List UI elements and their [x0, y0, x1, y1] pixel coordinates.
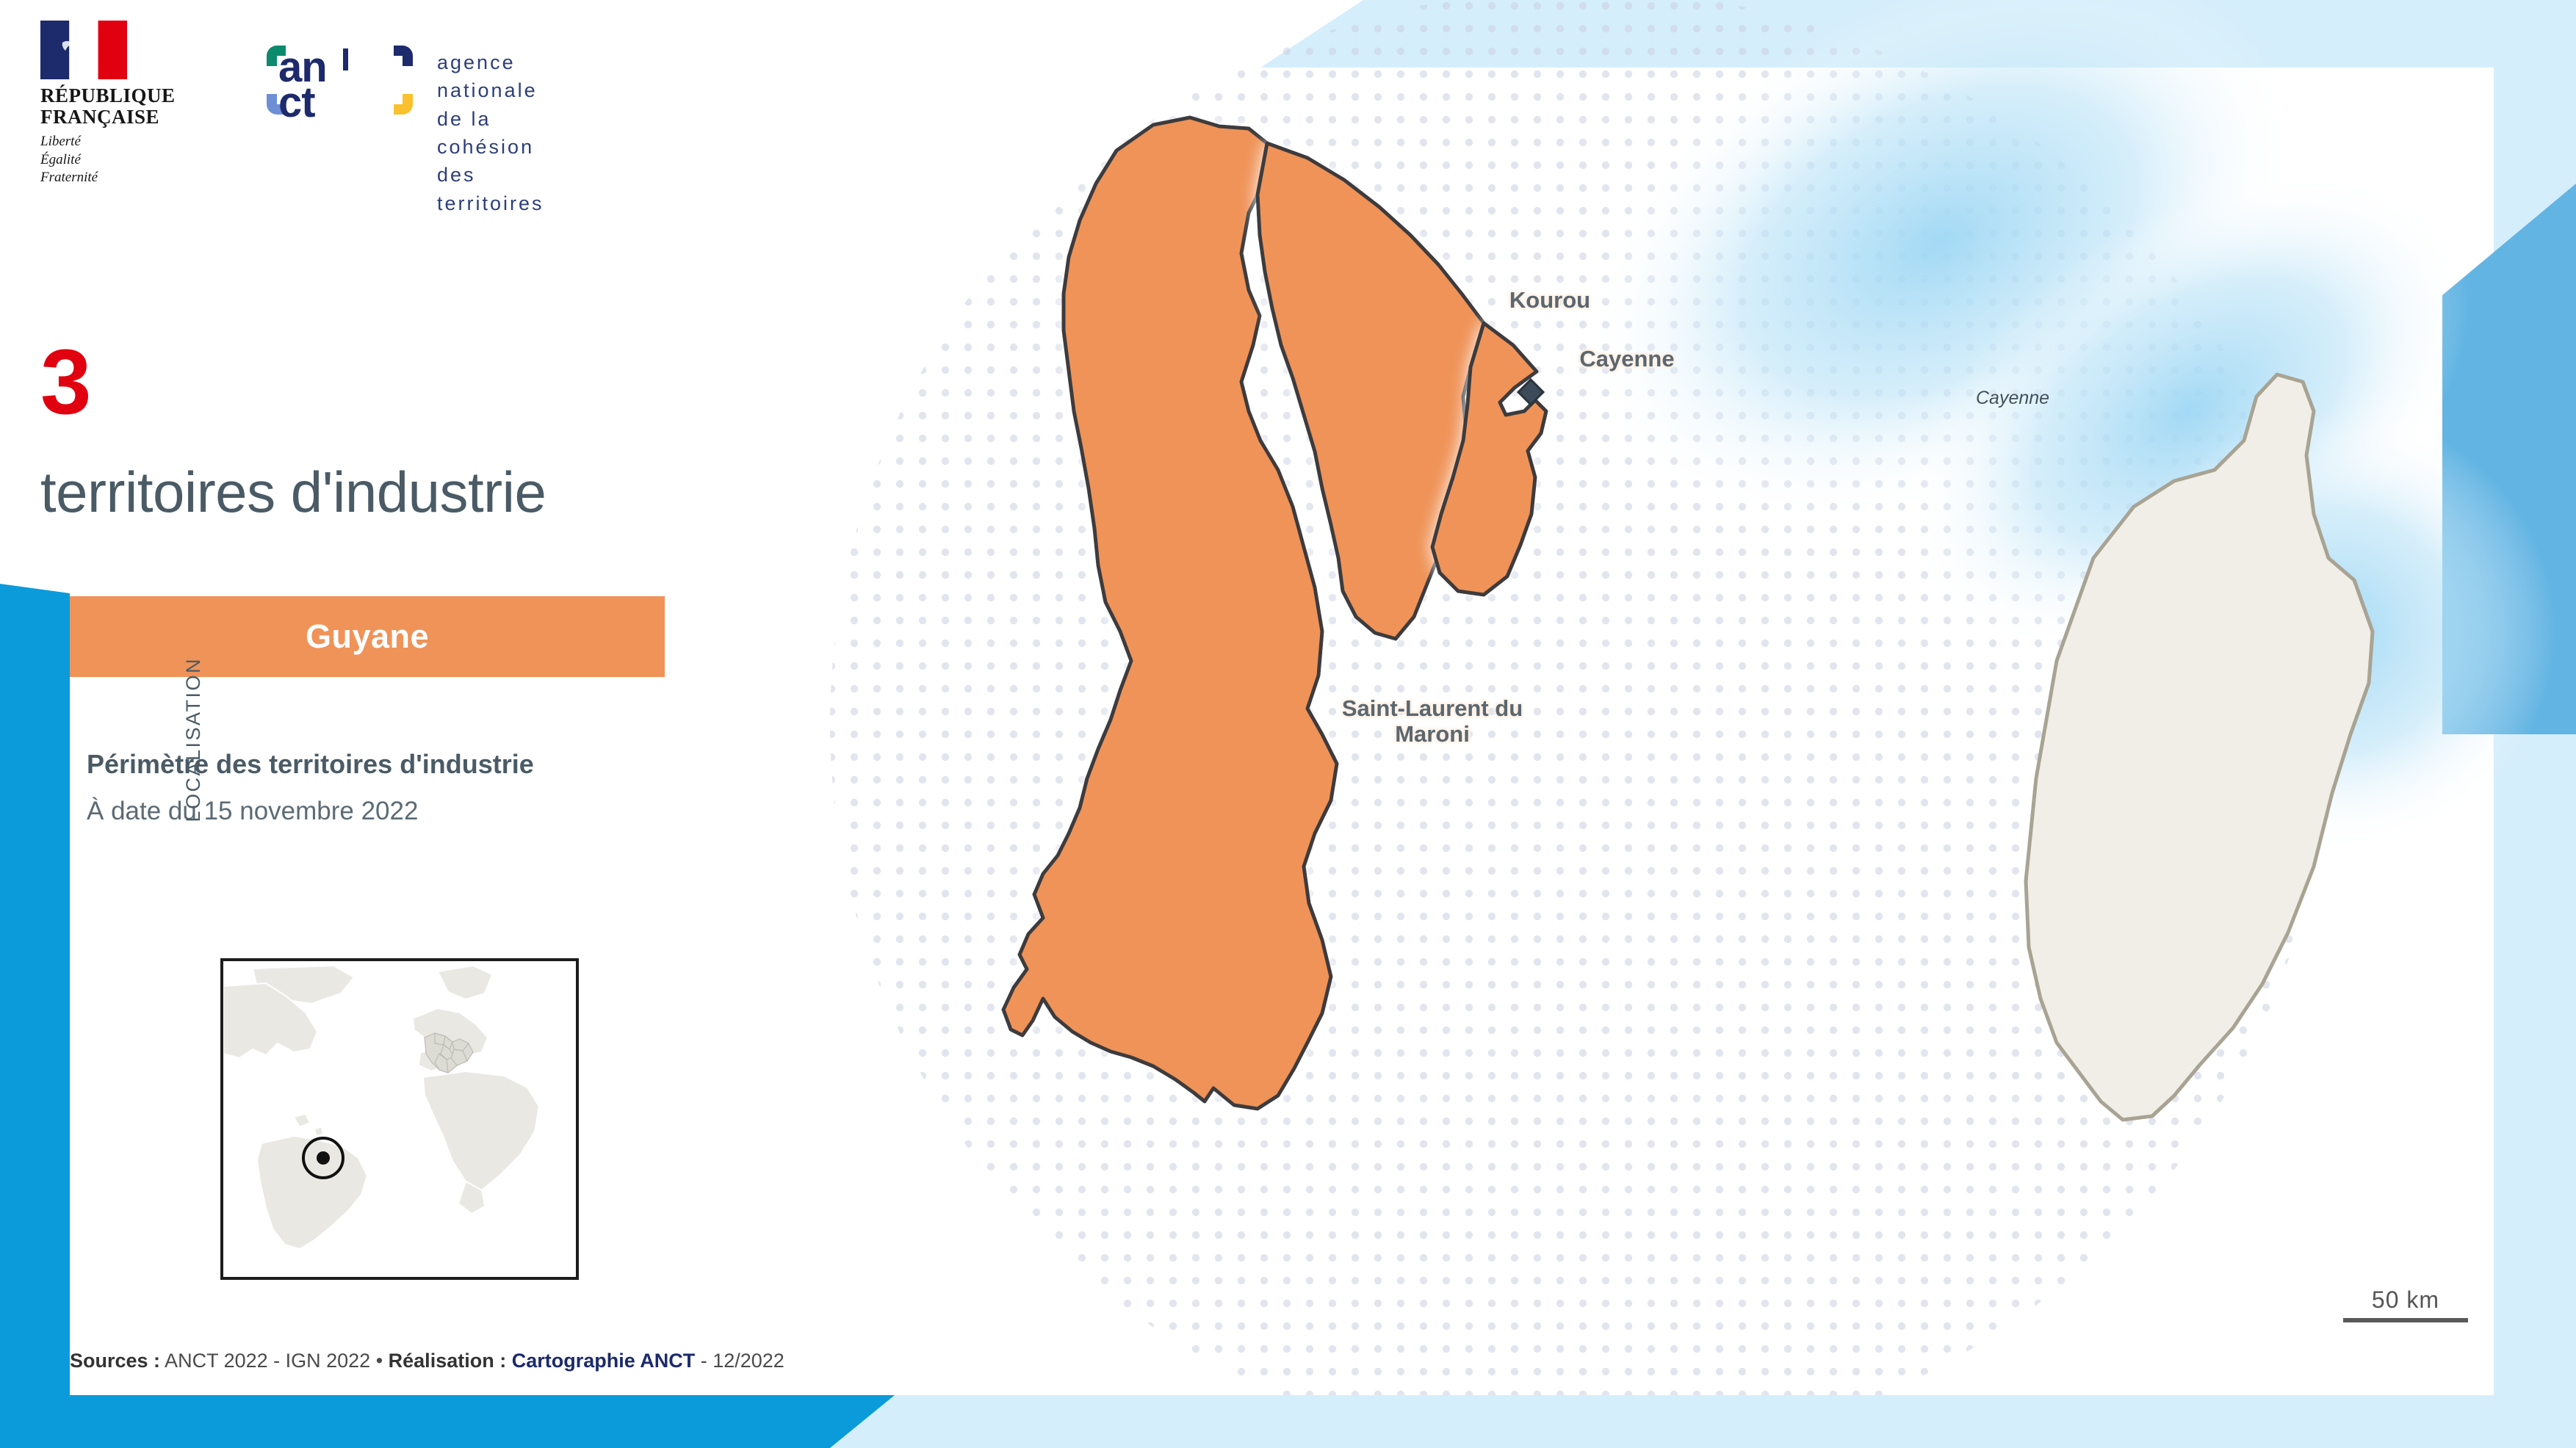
map-date-note: À date du 15 novembre 2022: [87, 797, 418, 826]
anct-wordmark: agence nationale de la cohésion des terr…: [437, 48, 544, 217]
republic-line-2: FRANÇAISE: [40, 106, 224, 128]
region-name: Guyane: [306, 618, 429, 656]
french-flag-marianne-icon: [40, 21, 127, 79]
world-locator-svg: [223, 961, 570, 1271]
svg-text:ct: ct: [278, 79, 315, 126]
map-subtitle: Périmètre des territoires d'industrie: [87, 749, 534, 780]
anct-line-3: des territoires: [437, 161, 544, 217]
territory-count-label: territoires d'industrie: [40, 459, 546, 526]
anct-line-2: de la cohésion: [437, 105, 544, 162]
map-scale-value: 50 km: [2343, 1286, 2468, 1314]
realisation-value: Cartographie ANCT: [506, 1350, 695, 1372]
anct-logo-icon: an ct: [261, 34, 419, 126]
locator-map-frame: [220, 958, 579, 1280]
map-scale-bar: 50 km: [2343, 1286, 2468, 1322]
sources-edition: - 12/2022: [695, 1350, 784, 1372]
devise-line-1: Liberté: [40, 133, 224, 151]
devise-text: Liberté Égalité Fraternité: [40, 133, 224, 187]
anct-line-1: agence nationale: [437, 48, 544, 105]
republic-line-1: RÉPUBLIQUE: [40, 85, 224, 106]
devise-line-3: Fraternité: [40, 169, 224, 187]
map-scale-rule: [2343, 1318, 2468, 1322]
republique-francaise-logo: RÉPUBLIQUE FRANÇAISE Liberté Égalité Fra…: [40, 21, 224, 187]
devise-line-2: Égalité: [40, 151, 224, 169]
territory-count: 3: [40, 345, 92, 421]
sources-line: Sources : ANCT 2022 - IGN 2022 • Réalisa…: [70, 1350, 784, 1372]
info-panel: RÉPUBLIQUE FRANÇAISE Liberté Égalité Fra…: [0, 0, 914, 1395]
realisation-label: Réalisation :: [389, 1350, 507, 1372]
region-banner: Guyane: [70, 596, 665, 677]
map-canvas[interactable]: [735, 0, 2576, 1448]
republique-francaise-text: RÉPUBLIQUE FRANÇAISE: [40, 85, 224, 128]
sources-label: Sources :: [70, 1350, 160, 1372]
locator-map-label: LOCALISATION: [184, 657, 203, 966]
sources-providers: ANCT 2022 - IGN 2022 •: [160, 1350, 389, 1372]
